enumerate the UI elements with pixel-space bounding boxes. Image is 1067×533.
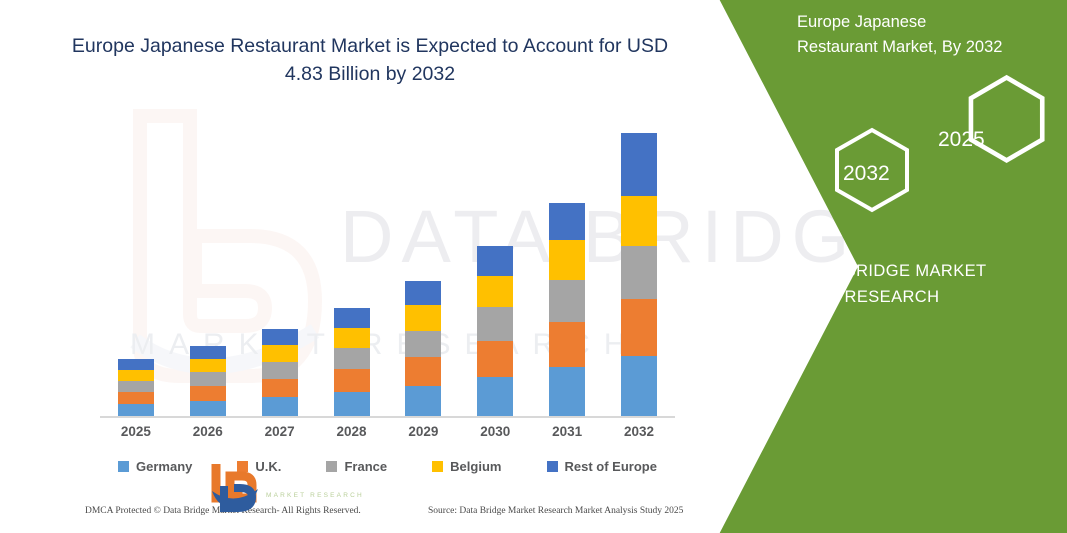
legend-label: Belgium bbox=[450, 459, 501, 474]
bar-segment-france bbox=[405, 331, 441, 357]
stacked-bar bbox=[477, 246, 513, 416]
bar-segment-rest-of-europe bbox=[621, 133, 657, 196]
legend-item-belgium[interactable]: Belgium bbox=[432, 459, 501, 474]
logo-tagline: MARKET RESEARCH bbox=[266, 492, 364, 499]
x-label-2030: 2030 bbox=[460, 424, 531, 446]
stacked-bar bbox=[118, 359, 154, 416]
bar-segment-germany bbox=[334, 392, 370, 416]
x-label-2028: 2028 bbox=[316, 424, 387, 446]
data-bridge-logo: DATA BRIDGE MARKET RESEARCH bbox=[208, 458, 383, 513]
chart-title: Europe Japanese Restaurant Market is Exp… bbox=[60, 32, 680, 89]
bar-column-2030 bbox=[460, 120, 531, 416]
bar-segment-france bbox=[118, 381, 154, 392]
bar-segment-rest-of-europe bbox=[262, 329, 298, 345]
bar-segment-belgium bbox=[621, 196, 657, 246]
bar-column-2027 bbox=[244, 120, 315, 416]
bar-segment-u-k- bbox=[334, 369, 370, 392]
x-label-2032: 2032 bbox=[604, 424, 675, 446]
bar-segment-u-k- bbox=[190, 386, 226, 401]
legend-swatch-icon bbox=[432, 461, 443, 472]
bar-segment-germany bbox=[118, 404, 154, 416]
bar-segment-france bbox=[190, 372, 226, 386]
bar-column-2026 bbox=[172, 120, 243, 416]
x-label-2029: 2029 bbox=[388, 424, 459, 446]
chart-legend: GermanyU.K.FranceBelgiumRest of Europe bbox=[100, 455, 675, 477]
bar-segment-belgium bbox=[190, 359, 226, 372]
bar-segment-germany bbox=[621, 356, 657, 416]
bar-segment-u-k- bbox=[405, 357, 441, 386]
bar-segment-u-k- bbox=[262, 379, 298, 397]
bar-segment-france bbox=[262, 362, 298, 379]
stacked-bar bbox=[405, 281, 441, 416]
bar-segment-germany bbox=[405, 386, 441, 416]
footer-source: Source: Data Bridge Market Research Mark… bbox=[428, 506, 683, 516]
bar-segment-belgium bbox=[549, 240, 585, 280]
bar-segment-france bbox=[621, 246, 657, 299]
legend-label: Rest of Europe bbox=[565, 459, 657, 474]
bar-column-2029 bbox=[388, 120, 459, 416]
infographic-root: DATA BRIDGE MARKET RESEARCH Europe Japan… bbox=[0, 0, 1067, 533]
stacked-bar bbox=[262, 329, 298, 416]
legend-item-rest-of-europe[interactable]: Rest of Europe bbox=[547, 459, 657, 474]
bar-segment-germany bbox=[262, 397, 298, 416]
stacked-bar bbox=[190, 346, 226, 416]
x-axis-labels: 20252026202720282029203020312032 bbox=[100, 424, 675, 446]
brand-panel-name: DATA BRIDGE MARKET RESEARCH bbox=[687, 258, 1067, 311]
bar-segment-germany bbox=[549, 367, 585, 416]
x-axis-line bbox=[100, 416, 675, 418]
chart-panel: Europe Japanese Restaurant Market is Exp… bbox=[0, 0, 760, 533]
x-label-2031: 2031 bbox=[532, 424, 603, 446]
bar-column-2025 bbox=[100, 120, 171, 416]
bar-segment-u-k- bbox=[118, 392, 154, 404]
bar-segment-france bbox=[477, 307, 513, 340]
bar-column-2028 bbox=[316, 120, 387, 416]
bar-segment-u-k- bbox=[477, 341, 513, 377]
x-label-2027: 2027 bbox=[244, 424, 315, 446]
bar-segment-rest-of-europe bbox=[334, 308, 370, 327]
bar-segment-germany bbox=[190, 401, 226, 416]
bar-segment-germany bbox=[477, 377, 513, 416]
bar-segment-rest-of-europe bbox=[549, 203, 585, 240]
bar-column-2031 bbox=[532, 120, 603, 416]
bar-segment-u-k- bbox=[549, 322, 585, 368]
bar-segment-rest-of-europe bbox=[190, 346, 226, 359]
bar-segment-rest-of-europe bbox=[405, 281, 441, 305]
logo-wordmark: DATA BRIDGE bbox=[266, 471, 383, 488]
stacked-bar bbox=[549, 203, 585, 416]
bar-segment-u-k- bbox=[621, 299, 657, 356]
legend-label: Germany bbox=[136, 459, 192, 474]
legend-swatch-icon bbox=[118, 461, 129, 472]
bar-column-2032 bbox=[604, 120, 675, 416]
bar-segment-belgium bbox=[334, 328, 370, 348]
bar-segment-belgium bbox=[405, 305, 441, 330]
stacked-bar bbox=[621, 133, 657, 416]
bar-segment-rest-of-europe bbox=[477, 246, 513, 276]
bar-segment-rest-of-europe bbox=[118, 359, 154, 370]
x-label-2025: 2025 bbox=[100, 424, 171, 446]
legend-item-germany[interactable]: Germany bbox=[118, 459, 192, 474]
x-label-2026: 2026 bbox=[172, 424, 243, 446]
bar-segment-france bbox=[334, 348, 370, 369]
bar-segment-belgium bbox=[477, 276, 513, 308]
bar-segment-belgium bbox=[118, 370, 154, 381]
bar-segment-france bbox=[549, 280, 585, 322]
stacked-bar bbox=[334, 308, 370, 416]
bar-segment-belgium bbox=[262, 345, 298, 361]
stacked-bar-chart bbox=[100, 120, 675, 416]
legend-swatch-icon bbox=[547, 461, 558, 472]
brand-panel-title: Europe Japanese Restaurant Market, By 20… bbox=[687, 10, 1067, 60]
